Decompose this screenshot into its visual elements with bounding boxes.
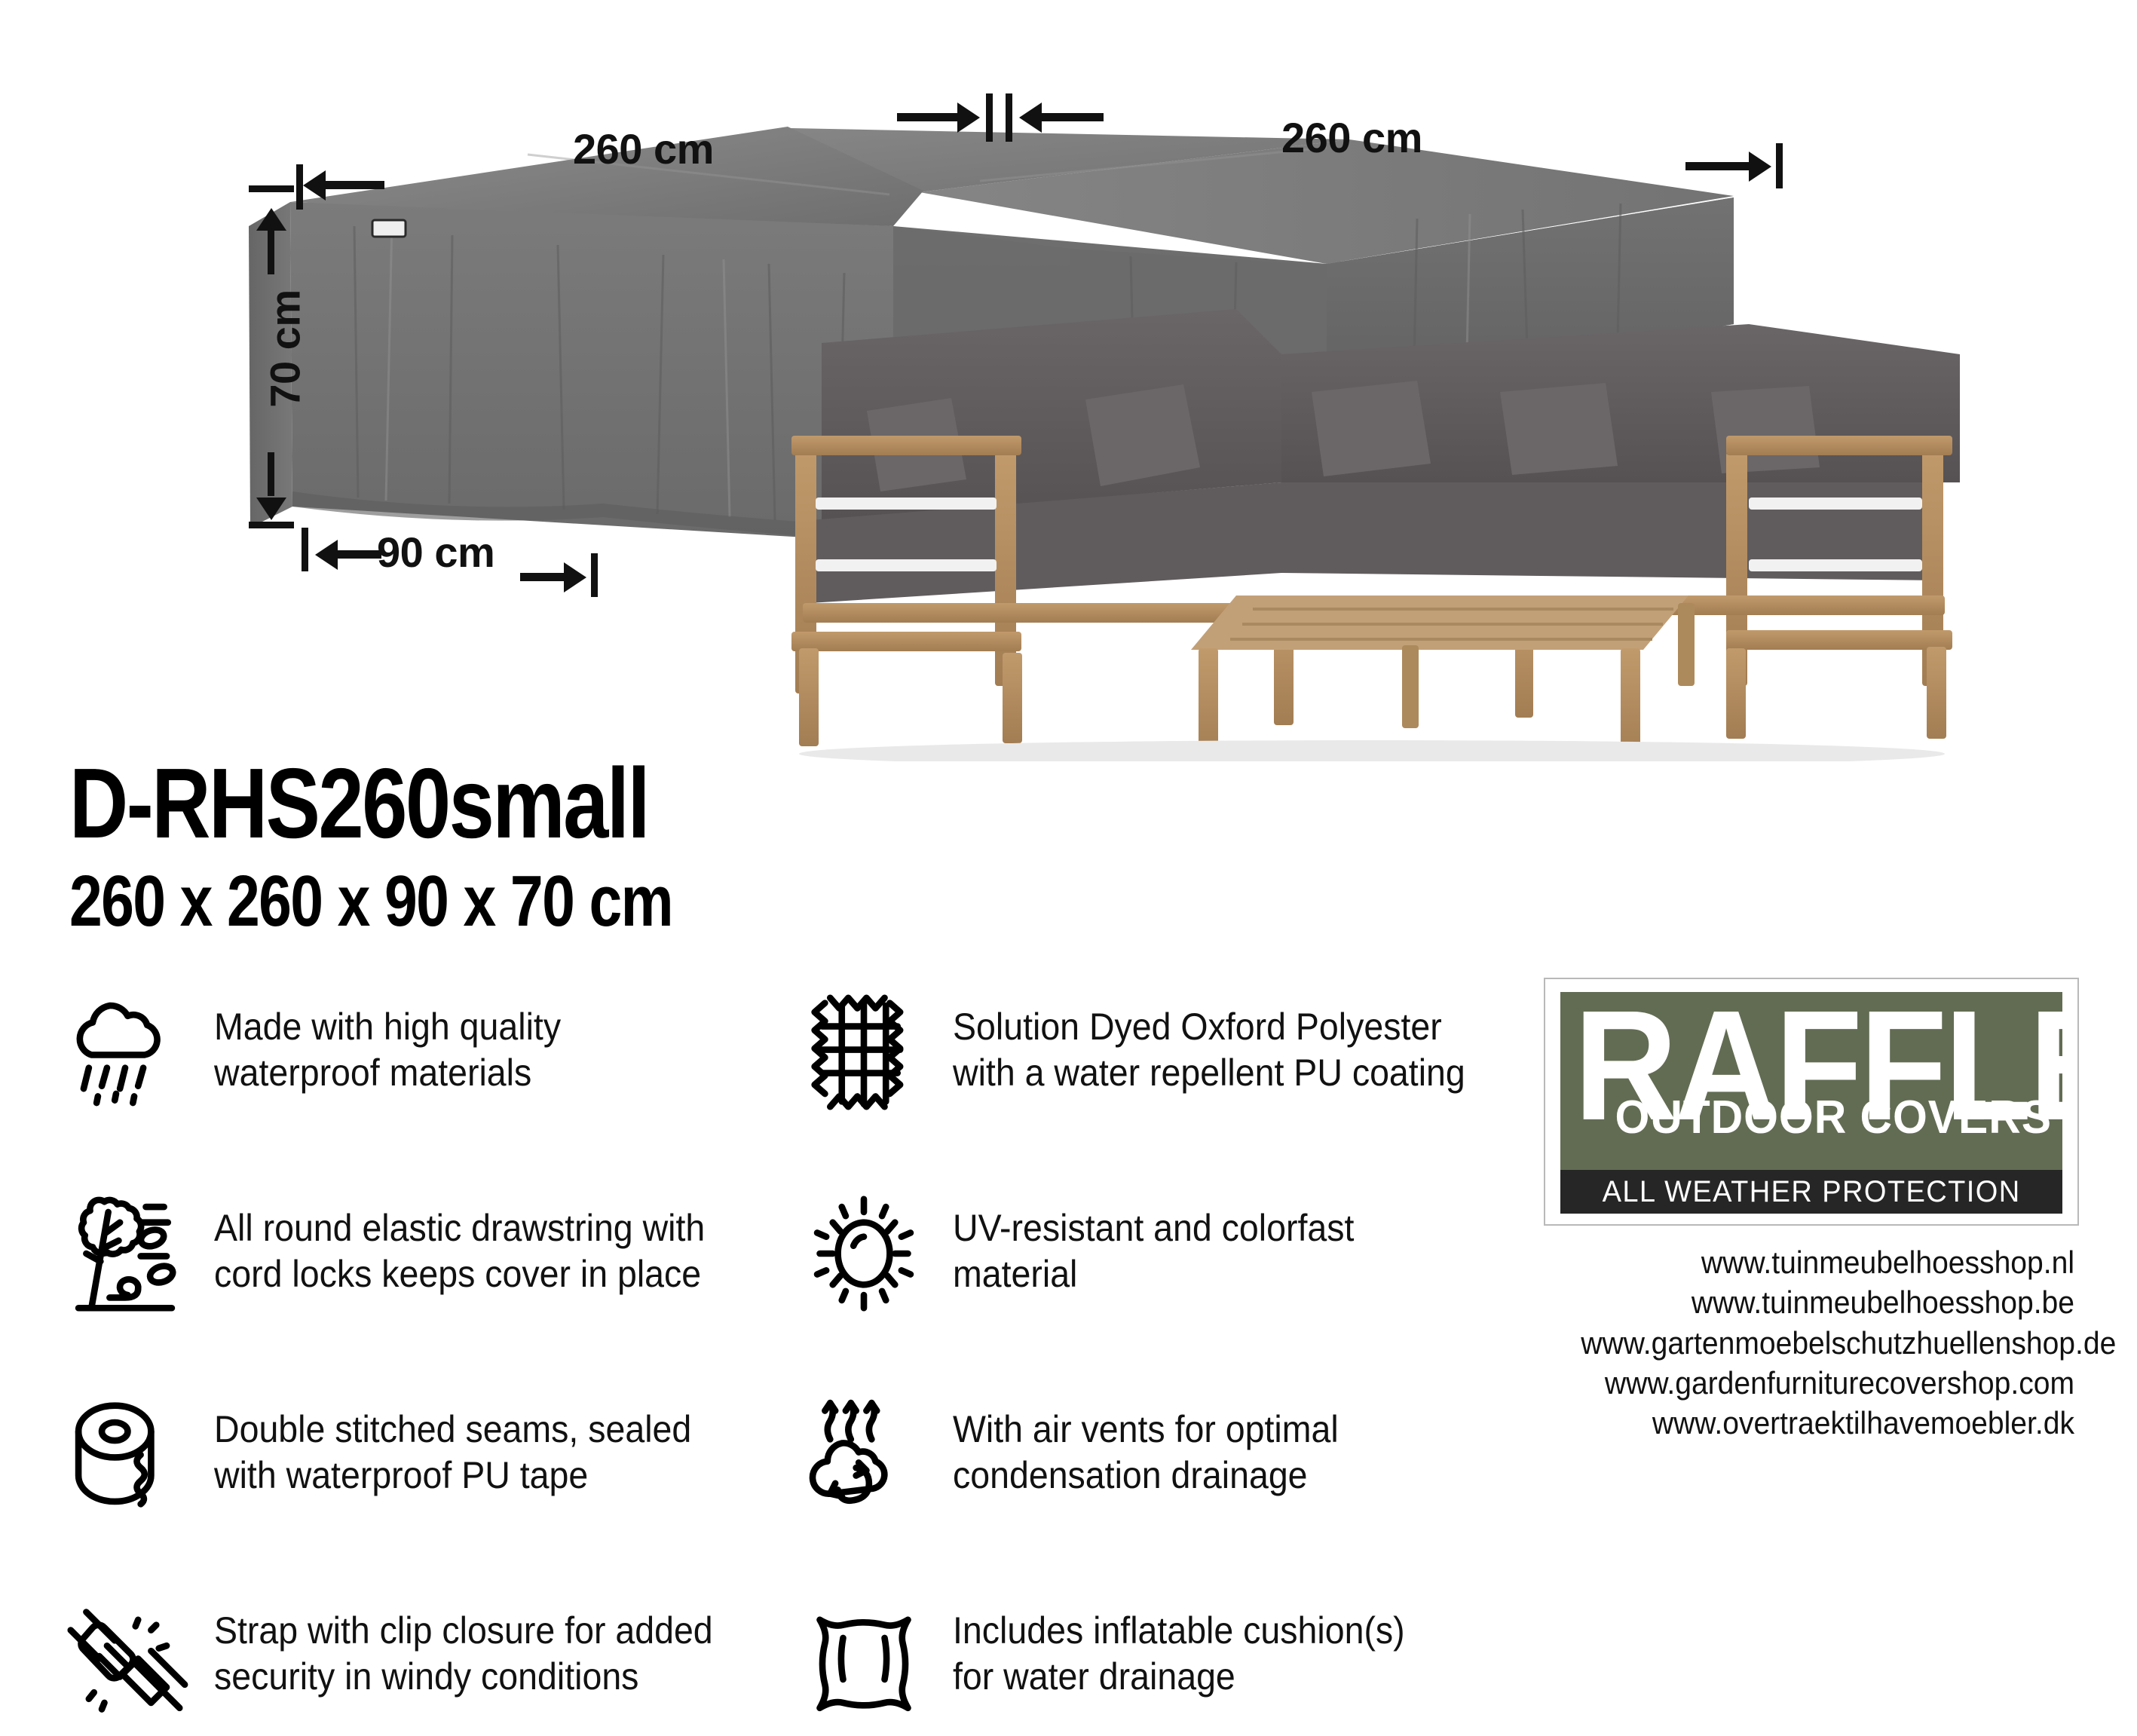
brand-panel: RAFFLES OUTDOOR COVERS ALL WEATHER PROTE… [1544,978,2079,1444]
feature-text: Strap with clip closure for added securi… [214,1591,713,1700]
feature-text: UV-resistant and colorfast material [953,1189,1354,1297]
strap-clip-icon [60,1591,190,1721]
feature-text: Includes inflatable cushion(s) for water… [953,1591,1405,1700]
product-illustration: 260 cm 260 cm 90 cm 70 cm [0,0,2137,761]
product-dimensions: 260 x 260 x 90 x 70 cm [69,864,672,940]
dimension-label-left-top: 260 cm [573,124,714,173]
feature-text: All round elastic drawstring with cord l… [214,1189,705,1297]
feature-waterproof: Made with high quality waterproof materi… [60,987,776,1131]
title-block: D-RHS260small 260 x 260 x 90 x 70 cm [69,754,805,940]
feature-inflatable-cushion: Includes inflatable cushion(s) for water… [799,1591,1515,1734]
lounge-set-graphic [791,309,1960,761]
dimension-label-depth: 90 cm [377,528,494,577]
feature-text: With air vents for optimal condensation … [953,1390,1339,1499]
logo-green-panel: RAFFLES OUTDOOR COVERS [1560,992,2062,1170]
fabric-weave-icon [799,987,929,1117]
logo-subtitle: OUTDOOR COVERS [1615,1091,2052,1144]
raffles-logo: RAFFLES OUTDOOR COVERS ALL WEATHER PROTE… [1544,978,2079,1226]
feature-air-vents: With air vents for optimal condensation … [799,1390,1515,1533]
logo-tagline: ALL WEATHER PROTECTION [1603,1175,2021,1209]
tape-roll-icon [60,1390,190,1520]
product-code: D-RHS260small [69,754,672,853]
feature-sealed-seams: Double stitched seams, sealed with water… [60,1390,776,1533]
air-vent-cloud-icon [799,1390,929,1520]
features-section: Made with high quality waterproof materi… [60,987,1515,1734]
dimension-label-height: 70 cm [261,289,310,407]
features-left-column: Made with high quality waterproof materi… [60,987,776,1734]
website-de: www.gartenmoebelschutzhuellenshop.de [1581,1323,2074,1363]
feature-uv-resistant: UV-resistant and colorfast material [799,1189,1515,1332]
website-be: www.tuinmeubelhoesshop.be [1581,1282,2074,1322]
feature-text: Solution Dyed Oxford Polyester with a wa… [953,987,1465,1096]
feature-text: Made with high quality waterproof materi… [214,987,561,1096]
website-com: www.gardenfurniturecovershop.com [1581,1363,2074,1403]
pillow-icon [799,1591,929,1721]
coffee-table-graphic [1191,596,1695,761]
website-list: www.tuinmeubelhoesshop.nl www.tuinmeubel… [1544,1242,2079,1444]
feature-strap-clip: Strap with clip closure for added securi… [60,1591,776,1734]
features-right-column: Solution Dyed Oxford Polyester with a wa… [799,987,1515,1734]
feature-oxford-polyester: Solution Dyed Oxford Polyester with a wa… [799,987,1515,1131]
feature-text: Double stitched seams, sealed with water… [214,1390,691,1499]
logo-tagline-bar: ALL WEATHER PROTECTION [1560,1170,2062,1214]
website-dk: www.overtraektilhavemoebler.dk [1581,1403,2074,1443]
product-label-page: 260 cm 260 cm 90 cm 70 cm D-RHS260small … [0,0,2137,1736]
sun-icon [799,1189,929,1318]
rain-cloud-icon [60,987,190,1117]
website-nl: www.tuinmeubelhoesshop.nl [1581,1242,2074,1282]
tree-wind-icon [60,1189,190,1318]
feature-drawstring: All round elastic drawstring with cord l… [60,1189,776,1332]
dimension-label-right-top: 260 cm [1281,113,1422,162]
